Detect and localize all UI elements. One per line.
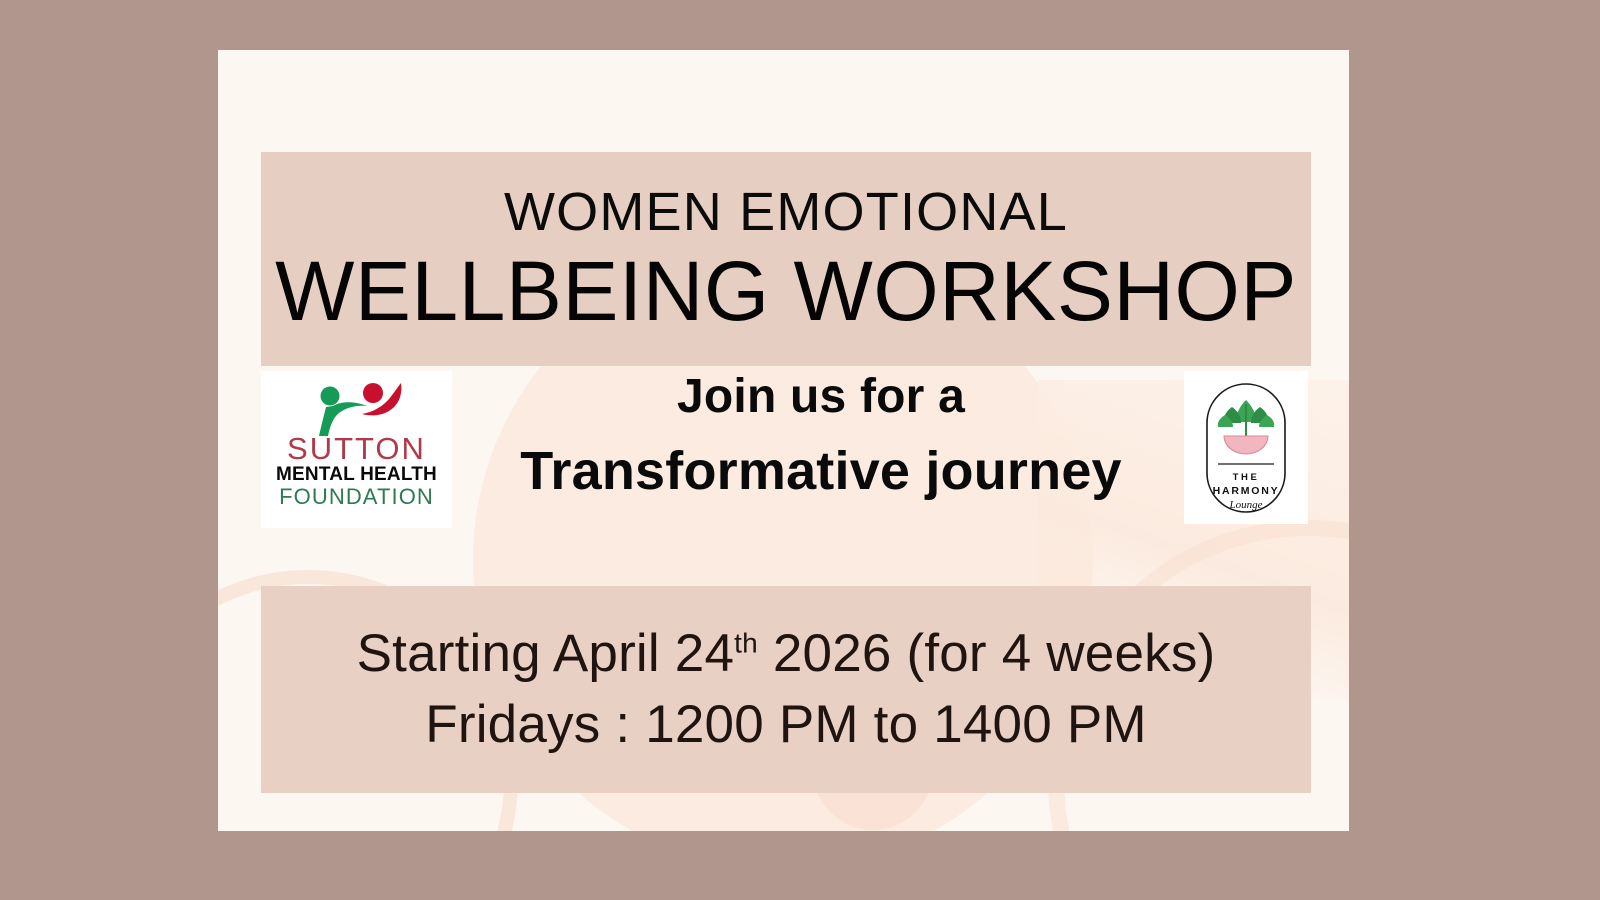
sutton-figures-icon (297, 379, 417, 437)
flyer-card: WOMEN EMOTIONAL WELLBEING WORKSHOP SUTTO… (218, 50, 1349, 831)
title-band: WOMEN EMOTIONAL WELLBEING WORKSHOP (261, 152, 1311, 366)
harmony-potted-leaf-icon: THE HARMONY Lounge (1198, 380, 1294, 516)
svg-text:HARMONY: HARMONY (1213, 485, 1280, 497)
sutton-logo-wordmark: SUTTON (287, 433, 426, 464)
date-start-prefix: Starting April 24 (357, 624, 735, 683)
date-band: Starting April 24th 2026 (for 4 weeks) F… (261, 586, 1311, 793)
sutton-logo-subtitle-one: MENTAL HEALTH (276, 464, 437, 485)
tagline-line-two: Transformative journey (461, 440, 1181, 502)
tagline-line-one: Join us for a (461, 369, 1181, 424)
poster-stage: WOMEN EMOTIONAL WELLBEING WORKSHOP SUTTO… (0, 0, 1600, 900)
date-ordinal-suffix: th (734, 628, 758, 659)
svg-text:Lounge: Lounge (1229, 499, 1263, 511)
harmony-lounge-logo: THE HARMONY Lounge (1184, 371, 1308, 524)
sutton-logo: SUTTON MENTAL HEALTH FOUNDATION (261, 371, 452, 528)
date-line-schedule: Fridays : 1200 PM to 1400 PM (425, 696, 1146, 754)
date-start-suffix: 2026 (for 4 weeks) (758, 624, 1215, 683)
title-line-secondary: WELLBEING WORKSHOP (275, 249, 1297, 333)
title-line-primary: WOMEN EMOTIONAL (504, 185, 1068, 239)
tagline-block: Join us for a Transformative journey (461, 369, 1181, 502)
date-line-start: Starting April 24th 2026 (for 4 weeks) (357, 625, 1216, 683)
middle-row: SUTTON MENTAL HEALTH FOUNDATION Join us … (261, 371, 1349, 531)
sutton-logo-subtitle-two: FOUNDATION (279, 485, 434, 509)
svg-text:THE: THE (1233, 472, 1260, 483)
